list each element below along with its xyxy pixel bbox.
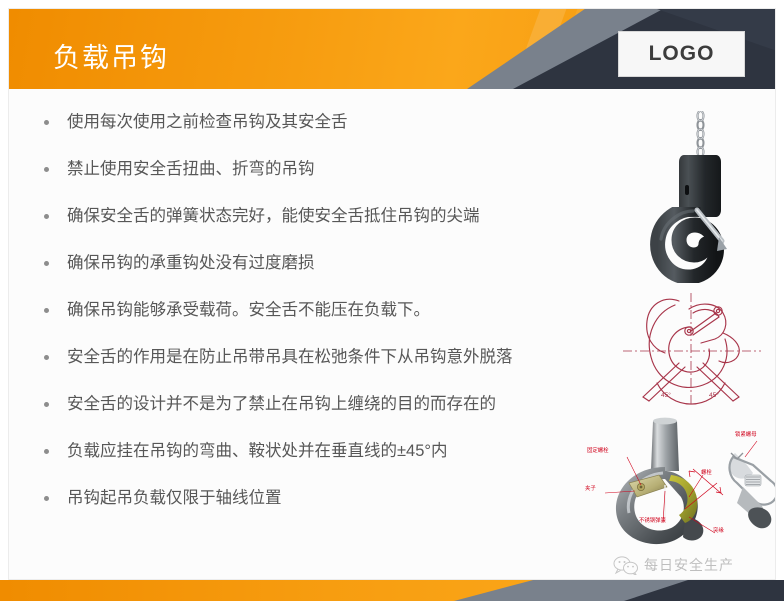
wechat-icon: [613, 555, 639, 575]
bullet-dot-icon: [44, 402, 49, 407]
slide-card: 负载吊钩 LOGO 使用每次使用之前检查吊钩及其安全舌 禁止使用安全舌扭曲、折弯…: [8, 8, 776, 580]
list-item: 确保吊钩能够承受载荷。安全舌不能压在负载下。: [31, 297, 611, 344]
bullet-dot-icon: [44, 120, 49, 125]
diagram-label-flange: 突缘: [713, 529, 724, 534]
bullet-dot-icon: [44, 355, 49, 360]
bullet-dot-icon: [44, 308, 49, 313]
diagram-label-fixing-bolt: 固定螺栓: [587, 449, 609, 454]
bullet-dot-icon: [44, 261, 49, 266]
list-item: 吊钩起吊负载仅限于轴线位置: [31, 485, 611, 532]
diagram-label-bolt: 螺栓: [701, 471, 712, 476]
hook-angle-line-drawing: 45° 45°: [605, 287, 776, 409]
list-item-label: 禁止使用安全舌扭曲、折弯的吊钩: [67, 156, 315, 182]
slide-footer: [0, 580, 784, 601]
list-item-label: 确保吊钩的承重钩处没有过度磨损: [67, 250, 315, 276]
list-item-label: 确保吊钩能够承受载荷。安全舌不能压在负载下。: [67, 297, 430, 323]
bullet-dot-icon: [44, 449, 49, 454]
hook-shape: [621, 207, 776, 283]
list-item-label: 安全舌的设计并不是为了禁止在吊钩上缠绕的目的而存在的: [67, 391, 496, 417]
list-item: 负载应挂在吊钩的弯曲、鞍状处并在垂直线的±45°内: [31, 438, 611, 485]
list-item: 确保安全舌的弹簧状态完好，能使安全舌抵住吊钩的尖端: [31, 203, 611, 250]
list-item-label: 安全舌的作用是在防止吊带吊具在松弛条件下从吊钩意外脱落: [67, 344, 513, 370]
bullet-dot-icon: [44, 496, 49, 501]
list-item: 禁止使用安全舌扭曲、折弯的吊钩: [31, 156, 611, 203]
list-item-label: 使用每次使用之前检查吊钩及其安全舌: [67, 109, 348, 135]
page-title: 负载吊钩: [53, 36, 169, 75]
logo-placeholder: LOGO: [618, 31, 745, 77]
diagram-label-lock-nut: 锁紧螺母: [735, 433, 757, 438]
slide: 负载吊钩 LOGO 使用每次使用之前检查吊钩及其安全舌 禁止使用安全舌扭曲、折弯…: [0, 0, 784, 601]
angle-label-right: 45°: [709, 391, 719, 399]
list-item-label: 负载应挂在吊钩的弯曲、鞍状处并在垂直线的±45°内: [67, 438, 448, 464]
diagram-label-clamp: 夹子: [585, 487, 596, 492]
hoist-hook-photo: [621, 111, 776, 283]
list-item: 确保吊钩的承重钩处没有过度磨损: [31, 250, 611, 297]
bullet-dot-icon: [44, 214, 49, 219]
slide-header: 负载吊钩 LOGO: [9, 9, 776, 89]
wechat-watermark: 每日安全生产: [613, 555, 734, 575]
watermark-label: 每日安全生产: [644, 555, 734, 575]
bullet-list: 使用每次使用之前检查吊钩及其安全舌 禁止使用安全舌扭曲、折弯的吊钩 确保安全舌的…: [31, 109, 611, 532]
hook-latch-diagram: 固定螺栓 夹子 不锈钢弹簧 螺栓 突缘 锁紧螺母: [585, 413, 776, 553]
logo-label: LOGO: [649, 42, 715, 66]
list-item-label: 确保安全舌的弹簧状态完好，能使安全舌抵住吊钩的尖端: [67, 203, 480, 229]
list-item: 安全舌的设计并不是为了禁止在吊钩上缠绕的目的而存在的: [31, 391, 611, 438]
list-item: 使用每次使用之前检查吊钩及其安全舌: [31, 109, 611, 156]
bullet-dot-icon: [44, 167, 49, 172]
list-item: 安全舌的作用是在防止吊带吊具在松弛条件下从吊钩意外脱落: [31, 344, 611, 391]
diagram-label-spring: 不锈钢弹簧: [639, 519, 666, 524]
chain-icon: [695, 111, 706, 157]
list-item-label: 吊钩起吊负载仅限于轴线位置: [67, 485, 282, 511]
angle-label-left: 45°: [661, 391, 671, 399]
